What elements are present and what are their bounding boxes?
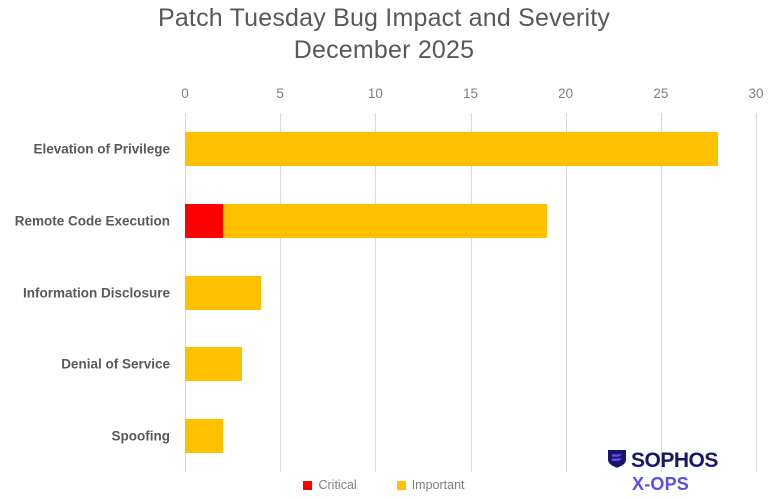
x-tick-label-0: 0: [181, 86, 189, 101]
x-tick-label-10: 10: [368, 86, 383, 101]
y-category-label: Denial of Service: [61, 357, 170, 372]
plot-area: [185, 113, 756, 472]
x-tick-label-5: 5: [276, 86, 284, 101]
y-category-label: Spoofing: [112, 429, 170, 444]
bar-row[interactable]: [185, 276, 756, 310]
y-category-label: Remote Code Execution: [15, 213, 170, 228]
bar-segment-critical[interactable]: [185, 204, 223, 238]
chart-title-line-2: December 2025: [0, 34, 768, 66]
logo-subbrand: X-OPS: [606, 474, 756, 494]
bar-segment-important[interactable]: [185, 132, 718, 166]
y-category-label: Information Disclosure: [23, 285, 170, 300]
x-tick-label-20: 20: [558, 86, 573, 101]
bar-segment-important[interactable]: [185, 276, 261, 310]
legend-label: Important: [412, 479, 465, 492]
legend-swatch-icon: [303, 481, 312, 490]
y-category-label: Elevation of Privilege: [33, 141, 170, 156]
legend-label: Critical: [318, 479, 356, 492]
bar-segment-important[interactable]: [185, 347, 242, 381]
x-tick-label-30: 30: [748, 86, 763, 101]
bar-segment-important[interactable]: [223, 204, 547, 238]
logo-wordmark: SOPHOS: [631, 450, 718, 472]
chart-title: Patch Tuesday Bug Impact and Severity De…: [0, 2, 768, 66]
legend-item-critical[interactable]: Critical: [303, 479, 356, 492]
x-axis-tick-labels: 051015202530: [185, 86, 756, 106]
legend-item-important[interactable]: Important: [397, 479, 465, 492]
logo-wordmark-row: SOPHOS: [606, 447, 756, 474]
chart-title-line-1: Patch Tuesday Bug Impact and Severity: [0, 2, 768, 34]
gridline-30: [756, 113, 757, 472]
y-axis-category-labels: Elevation of PrivilegeRemote Code Execut…: [0, 113, 178, 472]
x-tick-label-15: 15: [463, 86, 478, 101]
shield-icon: [606, 447, 628, 474]
sophos-xops-logo: SOPHOS X-OPS: [606, 447, 756, 493]
bar-row[interactable]: [185, 347, 756, 381]
bar-segment-important[interactable]: [185, 419, 223, 453]
bar-series-group: [185, 113, 756, 472]
legend-swatch-icon: [397, 481, 406, 490]
bar-row[interactable]: [185, 132, 756, 166]
bar-row[interactable]: [185, 204, 756, 238]
x-tick-label-25: 25: [653, 86, 668, 101]
